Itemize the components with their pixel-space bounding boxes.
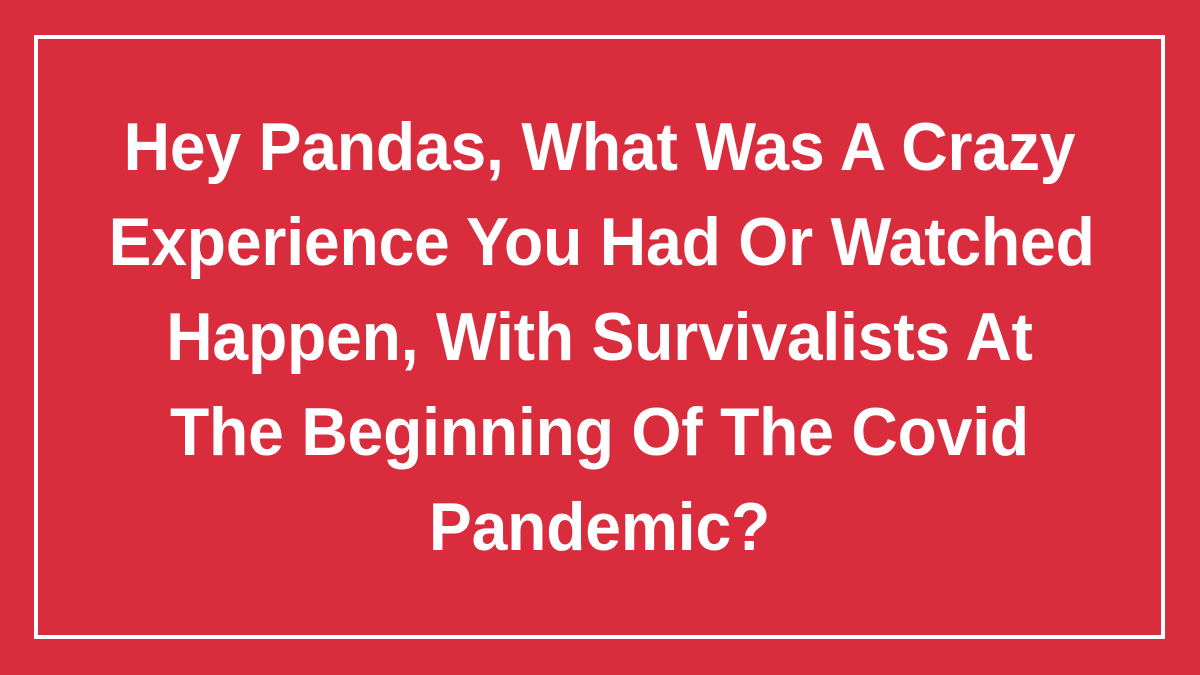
headline-line-5: Pandemic? — [109, 480, 1091, 575]
headline-text-block: Hey Pandas, What Was A Crazy Experience … — [34, 35, 1165, 639]
headline-line-1: Hey Pandas, What Was A Crazy — [109, 100, 1091, 195]
poster-card: Hey Pandas, What Was A Crazy Experience … — [0, 0, 1200, 675]
headline-line-4: The Beginning Of The Covid — [109, 385, 1091, 480]
headline-line-2: Experience You Had Or Watched — [109, 195, 1091, 290]
headline-line-3: Happen, With Survivalists At — [109, 290, 1091, 385]
